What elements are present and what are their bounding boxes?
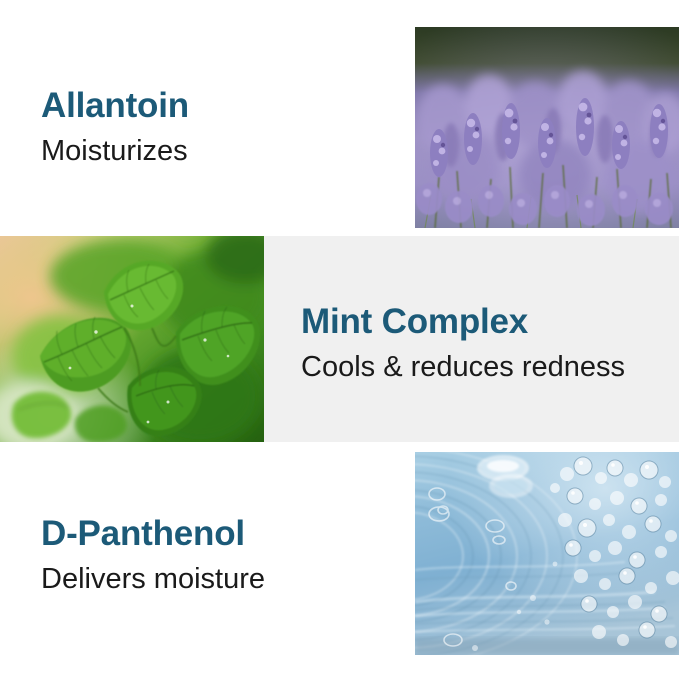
feature-heading-mint: Mint Complex	[301, 304, 625, 339]
feature-text-panthenol: D-Panthenol Delivers moisture	[41, 516, 265, 594]
feature-subheading-panthenol: Delivers moisture	[41, 565, 265, 594]
feature-heading-panthenol: D-Panthenol	[41, 516, 265, 551]
feature-subheading-mint: Cools & reduces redness	[301, 353, 625, 382]
mint-leaves-photo	[0, 236, 264, 442]
feature-text-allantoin: Allantoin Moisturizes	[41, 88, 189, 166]
feature-heading-allantoin: Allantoin	[41, 88, 189, 123]
lavender-field-photo	[415, 27, 679, 228]
feature-text-mint: Mint Complex Cools & reduces redness	[301, 304, 625, 382]
water-bubbles-photo	[415, 452, 679, 655]
ingredient-benefits-panel: Allantoin Moisturizes	[0, 0, 679, 679]
feature-subheading-allantoin: Moisturizes	[41, 137, 189, 166]
